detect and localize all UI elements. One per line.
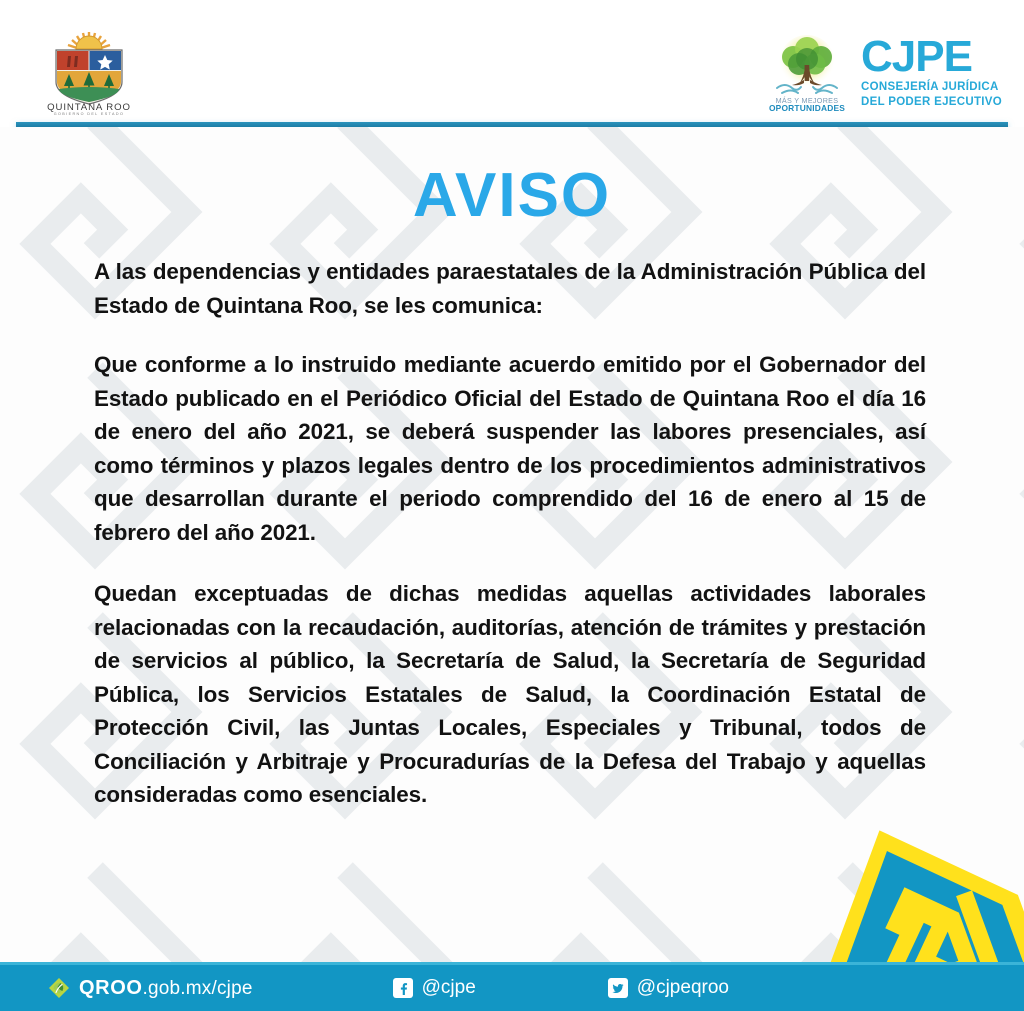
facebook-handle: @cjpe [422, 977, 476, 999]
facebook-icon [393, 978, 413, 998]
website-brand: QROO [79, 977, 143, 999]
twitter-icon [608, 978, 628, 998]
paragraph-1: A las dependencias y entidades paraestat… [94, 255, 926, 322]
website-label: QROO.gob.mx/cjpe [79, 977, 253, 1000]
paragraph-3: Quedan exceptuadas de dichas medidas aqu… [94, 577, 926, 812]
paragraph-2: Que conforme a lo instruido mediante acu… [94, 348, 926, 549]
quintana-roo-coat-of-arms-icon: QUINTANA ROO GOBIERNO DEL ESTADO 2016 • … [28, 26, 150, 118]
website-path: .gob.mx/cjpe [143, 978, 253, 999]
qroo-diamond-icon [48, 977, 70, 999]
twitter-link[interactable]: @cjpeqroo [608, 977, 729, 999]
facebook-link[interactable]: @cjpe [393, 977, 476, 999]
page-footer: QROO.gob.mx/cjpe @cjpe @cjpeqroo [0, 962, 1024, 1011]
cjpe-institution-logo: MÁS Y MEJORES OPORTUNIDADES CJPE CONSEJE… [765, 32, 1002, 114]
page-header: QUINTANA ROO GOBIERNO DEL ESTADO 2016 • … [0, 0, 1024, 124]
tree-icon: MÁS Y MEJORES OPORTUNIDADES [765, 33, 849, 113]
svg-text:GOBIERNO DEL ESTADO: GOBIERNO DEL ESTADO [54, 112, 124, 116]
notice-body: AVISO A las dependencias y entidades par… [0, 127, 1024, 962]
cjpe-acronym: CJPE [861, 36, 1002, 77]
twitter-handle: @cjpeqroo [637, 977, 729, 999]
website-link[interactable]: QROO.gob.mx/cjpe [48, 977, 253, 1000]
cjpe-name-line2: DEL PODER EJECUTIVO [861, 95, 1002, 110]
notice-paragraphs: A las dependencias y entidades paraestat… [94, 255, 926, 812]
page-title: AVISO [0, 160, 1024, 231]
cjpe-name-line1: CONSEJERÍA JURÍDICA [861, 80, 1002, 95]
svg-text:OPORTUNIDADES: OPORTUNIDADES [769, 103, 845, 113]
